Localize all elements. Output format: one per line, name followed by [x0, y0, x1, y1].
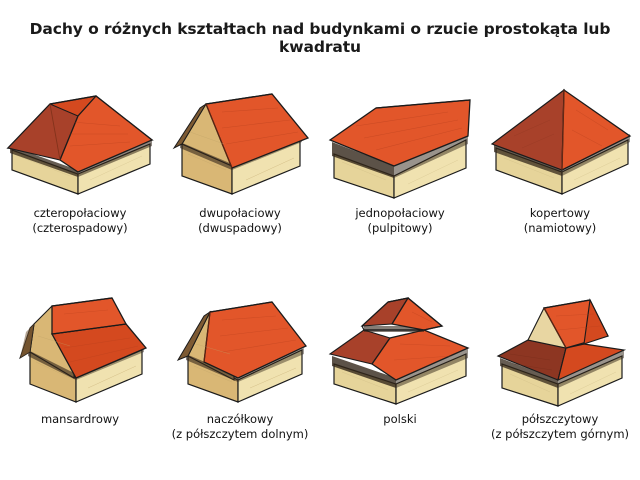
roof-caption: polski [320, 412, 480, 427]
caption-line-2: (z półszczytem górnym) [480, 427, 640, 442]
roof-item-pulpitowy: jednopołaciowy (pulpitowy) [320, 82, 480, 202]
caption-line-1: dwupołaciowy [199, 206, 280, 220]
page-title: Dachy o różnych kształtach nad budynkami… [0, 20, 640, 56]
half-gable-roof-icon [480, 288, 640, 408]
caption-line-1: polski [383, 412, 416, 426]
roof-types-figure: Dachy o różnych kształtach nad budynkami… [0, 0, 640, 480]
polish-roof-icon [320, 288, 480, 408]
hip-roof-icon [0, 82, 160, 202]
roof-caption: czteropołaciowy (czterospadowy) [0, 206, 160, 236]
pyramid-roof-icon [480, 82, 640, 202]
mansard-roof-icon [0, 288, 160, 408]
roof-item-naczolkowy: naczółkowy (z półszczytem dolnym) [160, 288, 320, 408]
caption-line-2: (z półszczytem dolnym) [160, 427, 320, 442]
caption-line-2: (namiotowy) [480, 221, 640, 236]
roof-caption: jednopołaciowy (pulpitowy) [320, 206, 480, 236]
caption-line-1: naczółkowy [207, 412, 274, 426]
shed-roof-icon [320, 82, 480, 202]
jerkinhead-roof-icon [160, 288, 320, 408]
roof-item-czterospadowy: czteropołaciowy (czterospadowy) [0, 82, 160, 202]
roof-item-polski: polski [320, 288, 480, 408]
roof-item-mansardrowy: mansardrowy [0, 288, 160, 408]
roof-caption: kopertowy (namiotowy) [480, 206, 640, 236]
caption-line-1: półszczytowy [522, 412, 599, 426]
roof-caption: naczółkowy (z półszczytem dolnym) [160, 412, 320, 442]
roof-caption: mansardrowy [0, 412, 160, 427]
caption-line-1: jednopołaciowy [355, 206, 444, 220]
roof-caption: dwupołaciowy (dwuspadowy) [160, 206, 320, 236]
roof-item-namiotowy: kopertowy (namiotowy) [480, 82, 640, 202]
gable-roof-icon [160, 82, 320, 202]
caption-line-2: (pulpitowy) [320, 221, 480, 236]
caption-line-2: (czterospadowy) [0, 221, 160, 236]
caption-line-2: (dwuspadowy) [160, 221, 320, 236]
roof-item-dwuspadowy: dwupołaciowy (dwuspadowy) [160, 82, 320, 202]
caption-line-1: mansardrowy [41, 412, 119, 426]
caption-line-1: czteropołaciowy [34, 206, 127, 220]
caption-line-1: kopertowy [530, 206, 590, 220]
roof-item-polszczytowy: półszczytowy (z półszczytem górnym) [480, 288, 640, 408]
roof-caption: półszczytowy (z półszczytem górnym) [480, 412, 640, 442]
